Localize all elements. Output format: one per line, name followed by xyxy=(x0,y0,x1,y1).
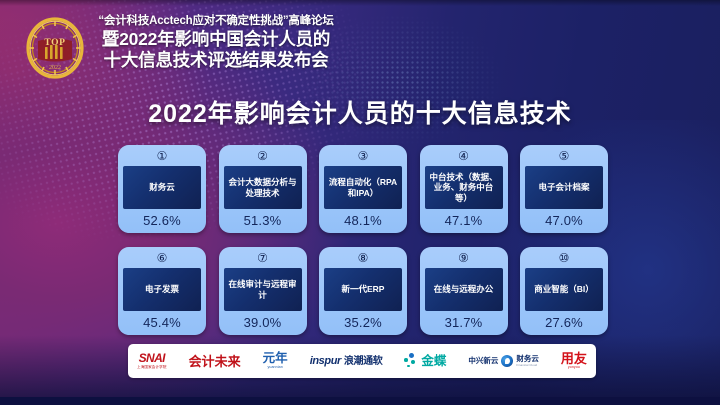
tech-card-percent: 52.6% xyxy=(143,213,181,228)
tech-card-rank: ⑤ xyxy=(559,149,570,164)
sponsor-logo-zhongxing-xinyun: 中兴新云 财务云 Financial Cloud xyxy=(468,355,539,367)
tech-card-rank: ③ xyxy=(358,149,369,164)
tech-card-rank: ④ xyxy=(458,149,469,164)
sponsor-logo-bar: SNAI 上海国家会计学院 会计未来 元年 yuannian inspur浪潮通… xyxy=(128,344,596,378)
tech-card-rank: ② xyxy=(257,149,268,164)
tech-card-2[interactable]: ② 会计大数据分析与处理技术 51.3% xyxy=(219,145,307,233)
page-title: 2022年影响会计人员的十大信息技术 xyxy=(0,94,720,130)
sponsor-name: 会计未来 xyxy=(189,355,241,368)
top-ten-row-2: ⑥ 电子发票 45.4% ⑦ 在线审计与远程审计 39.0% ⑧ 新一代ERP … xyxy=(118,247,608,335)
tech-card-6[interactable]: ⑥ 电子发票 45.4% xyxy=(118,247,206,335)
zhongxing-block: 中兴新云 xyxy=(468,357,498,366)
sponsor-name: 金蝶 xyxy=(421,355,446,368)
sponsor-name-secondary: 财务云 xyxy=(516,355,539,363)
sponsor-logo-yuannian: 元年 yuannian xyxy=(263,352,288,370)
tech-card-label: 电子会计档案 xyxy=(525,166,603,209)
tech-card-percent: 27.6% xyxy=(545,315,583,330)
tech-card-percent: 31.7% xyxy=(445,315,483,330)
background-edge-bottom xyxy=(0,397,720,405)
sponsor-logo-inspur: inspur浪潮通软 xyxy=(310,356,383,367)
tech-card-rank: ⑧ xyxy=(358,251,369,266)
header-title-block: “会计科技Acctech应对不确定性挑战”高峰论坛 暨2022年影响中国会计人员… xyxy=(86,14,346,71)
kingdee-dots-icon xyxy=(404,353,418,369)
slide-root: TOP 2022 “会计科技Acctech应对不确定性挑战”高峰论坛 暨2022… xyxy=(0,0,720,405)
sponsor-subtitle: yonyou xyxy=(568,366,580,370)
sponsor-subtitle: yuannian xyxy=(267,366,282,370)
sponsor-subtitle-secondary: Financial Cloud xyxy=(516,364,539,367)
tech-card-label: 在线与远程办公 xyxy=(425,268,503,311)
background-edge-top xyxy=(0,0,720,6)
tech-card-label: 会计大数据分析与处理技术 xyxy=(224,166,302,209)
sponsor-subtitle: 上海国家会计学院 xyxy=(137,366,167,370)
tech-card-1[interactable]: ① 财务云 52.6% xyxy=(118,145,206,233)
tech-card-percent: 51.3% xyxy=(244,213,282,228)
tech-card-percent: 39.0% xyxy=(244,315,282,330)
sponsor-name: 用友 xyxy=(561,352,587,365)
header-line-3: 十大信息技术评选结果发布会 xyxy=(86,50,346,71)
tech-card-4[interactable]: ④ 中台技术（数据、业务、财务中台等） 47.1% xyxy=(420,145,508,233)
tech-card-rank: ⑦ xyxy=(257,251,268,266)
sponsor-name-cn: 浪潮通软 xyxy=(344,356,382,367)
header: TOP 2022 “会计科技Acctech应对不确定性挑战”高峰论坛 暨2022… xyxy=(0,10,720,86)
caiwuyun-block: 财务云 Financial Cloud xyxy=(516,355,539,367)
sponsor-name: 元年 xyxy=(263,352,288,365)
svg-text:TOP: TOP xyxy=(44,38,65,48)
top-award-badge-icon: TOP 2022 xyxy=(26,17,84,79)
tech-card-label: 新一代ERP xyxy=(324,268,402,311)
sponsor-logo-kuaijiweilai: 会计未来 xyxy=(189,355,241,368)
header-line-1: “会计科技Acctech应对不确定性挑战”高峰论坛 xyxy=(86,14,346,29)
tech-card-rank: ⑥ xyxy=(157,251,168,266)
header-line-2: 暨2022年影响中国会计人员的 xyxy=(86,29,346,50)
tech-card-8[interactable]: ⑧ 新一代ERP 35.2% xyxy=(319,247,407,335)
tech-card-10[interactable]: ⑩ 商业智能（BI） 27.6% xyxy=(520,247,608,335)
sponsor-logo-yonyou: 用友 yonyou xyxy=(561,352,587,370)
tech-card-rank: ① xyxy=(157,149,168,164)
sponsor-logo-snai: SNAI 上海国家会计学院 xyxy=(137,352,167,369)
tech-card-7[interactable]: ⑦ 在线审计与远程审计 39.0% xyxy=(219,247,307,335)
sponsor-logo-kingdee: 金蝶 xyxy=(404,353,446,369)
tech-card-label: 商业智能（BI） xyxy=(525,268,603,311)
tech-card-3[interactable]: ③ 流程自动化（RPA和IPA） 48.1% xyxy=(319,145,407,233)
tech-card-label: 电子发票 xyxy=(123,268,201,311)
svg-text:2022: 2022 xyxy=(49,65,61,71)
financial-cloud-swirl-icon xyxy=(501,355,513,367)
tech-card-label: 流程自动化（RPA和IPA） xyxy=(324,166,402,209)
sponsor-name-latin: inspur xyxy=(310,355,341,367)
tech-card-label: 在线审计与远程审计 xyxy=(224,268,302,311)
tech-card-percent: 47.1% xyxy=(445,213,483,228)
top-ten-grid: ① 财务云 52.6% ② 会计大数据分析与处理技术 51.3% ③ 流程自动化… xyxy=(118,145,608,335)
tech-card-5[interactable]: ⑤ 电子会计档案 47.0% xyxy=(520,145,608,233)
tech-card-percent: 35.2% xyxy=(344,315,382,330)
sponsor-name: inspur浪潮通软 xyxy=(310,356,383,367)
sponsor-name: 中兴新云 xyxy=(468,357,498,365)
tech-card-9[interactable]: ⑨ 在线与远程办公 31.7% xyxy=(420,247,508,335)
tech-card-rank: ⑩ xyxy=(559,251,570,266)
sponsor-name: SNAI xyxy=(139,352,165,364)
tech-card-percent: 47.0% xyxy=(545,213,583,228)
tech-card-percent: 45.4% xyxy=(143,315,181,330)
top-ten-row-1: ① 财务云 52.6% ② 会计大数据分析与处理技术 51.3% ③ 流程自动化… xyxy=(118,145,608,233)
tech-card-rank: ⑨ xyxy=(458,251,469,266)
tech-card-percent: 48.1% xyxy=(344,213,382,228)
tech-card-label: 中台技术（数据、业务、财务中台等） xyxy=(425,166,503,209)
tech-card-label: 财务云 xyxy=(123,166,201,209)
